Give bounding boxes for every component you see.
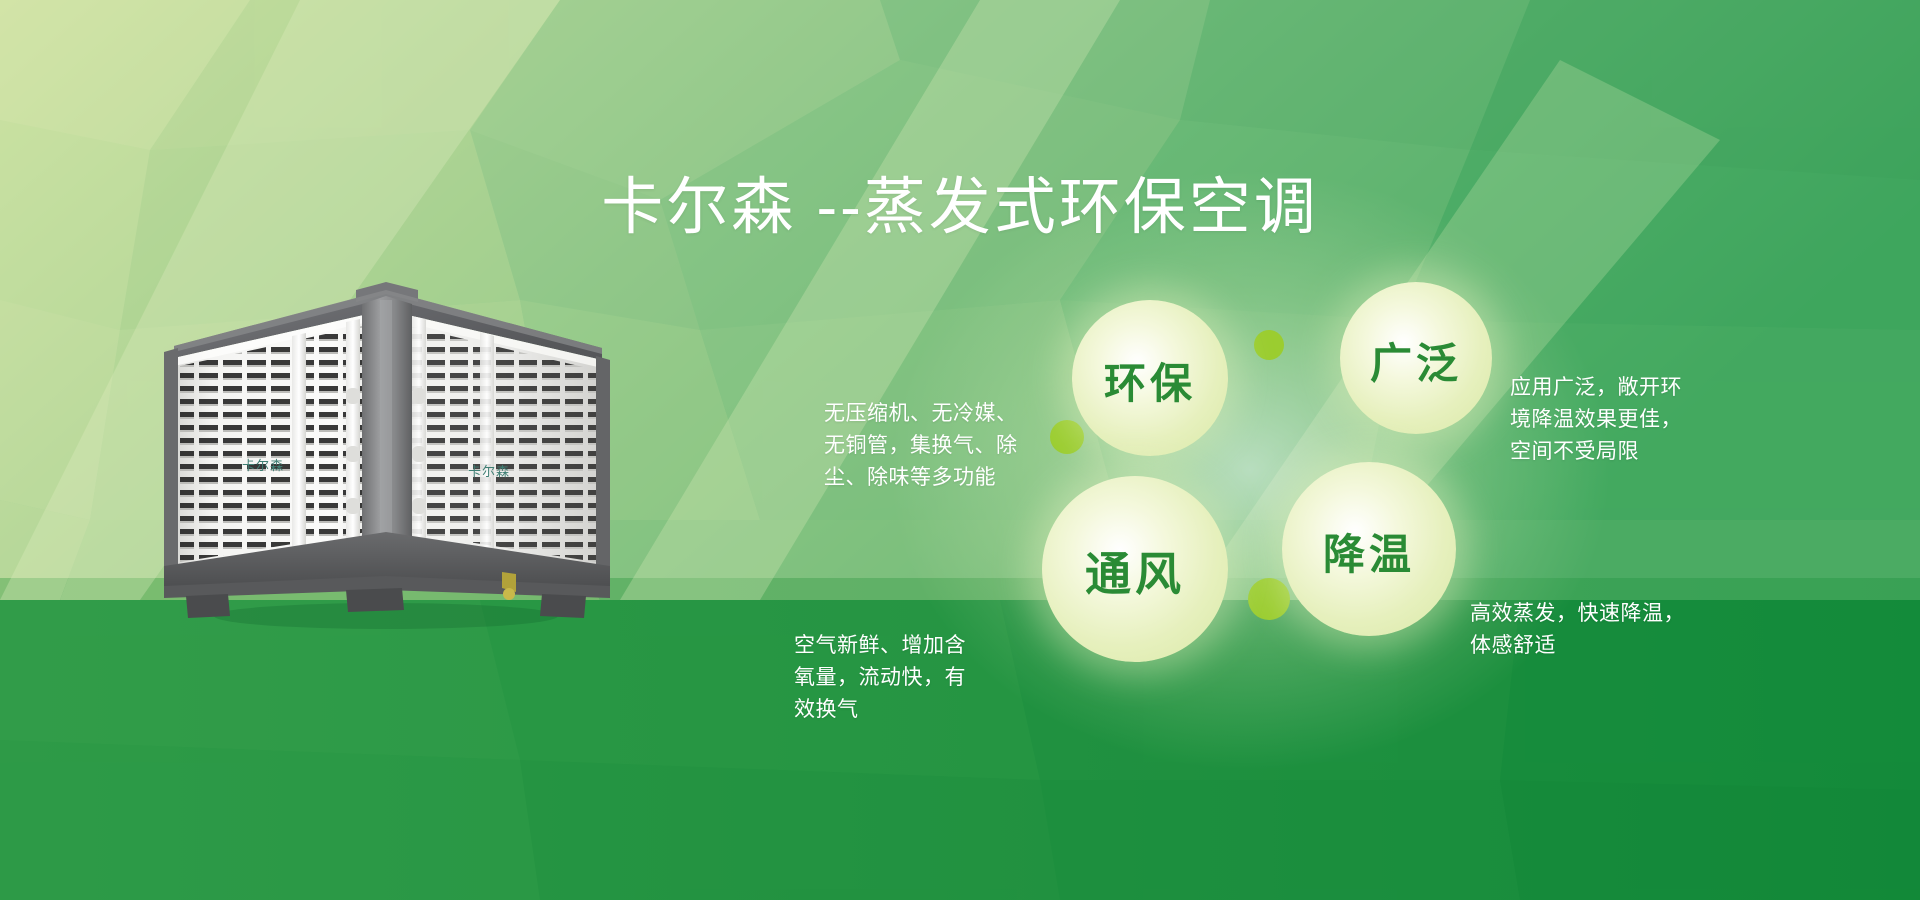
accent-dot-3	[1248, 578, 1290, 620]
feature-circle-jiangwen[interactable]: 降温	[1282, 462, 1456, 636]
product-brand-label-right: 卡尔森	[468, 464, 510, 479]
callout-wide-application: 应用广泛，敞开环 境降温效果更佳， 空间不受局限	[1510, 372, 1760, 468]
callout-fast-cooling: 高效蒸发，快速降温， 体感舒适	[1470, 598, 1760, 662]
promo-banner: 卡尔森 --蒸发式环保空调	[0, 0, 1920, 900]
callout-fresh-air: 空气新鲜、增加含 氧量，流动快，有 效换气	[794, 630, 1024, 726]
feature-circle-tongfeng[interactable]: 通风	[1042, 476, 1228, 662]
product-air-cooler-image: 卡尔森 卡尔森	[150, 280, 620, 630]
feature-circle-huanbao[interactable]: 环保	[1072, 300, 1228, 456]
feature-label-jiangwen: 降温	[1323, 521, 1415, 582]
accent-dot-1	[1254, 330, 1284, 360]
feature-label-huanbao: 环保	[1104, 350, 1196, 411]
callout-no-compressor: 无压缩机、无冷媒、 无铜管，集换气、除 尘、除味等多功能	[824, 398, 1074, 494]
feature-circle-guangfan[interactable]: 广泛	[1340, 282, 1492, 434]
product-brand-label-left: 卡尔森	[242, 458, 284, 473]
feature-label-guangfan: 广泛	[1370, 330, 1462, 391]
feature-label-tongfeng: 通风	[1085, 538, 1185, 604]
